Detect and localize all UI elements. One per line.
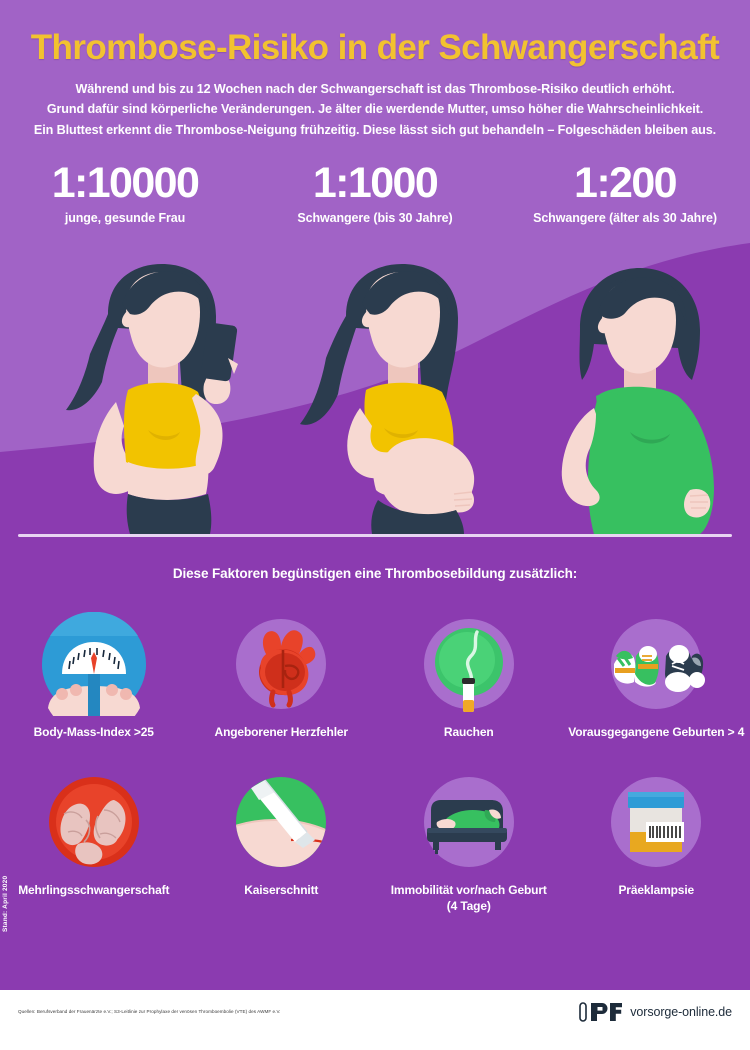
infographic-poster: Thrombose-Risiko in der Schwangerschaft …	[0, 0, 750, 1050]
ipf-logo-icon	[579, 1002, 623, 1022]
factor-item[interactable]: Kaiserschnitt	[188, 770, 376, 914]
stat-label: Schwangere (älter als 30 Jahre)	[500, 211, 750, 225]
stat-value: 1:10000	[0, 162, 250, 205]
factor-label: Mehrlingsschwangerschaft	[0, 882, 188, 898]
figure-illustrations	[0, 262, 750, 534]
intro-line-1: Während und bis zu 12 Wochen nach der Sc…	[0, 79, 750, 99]
stat-value: 1:1000	[250, 162, 500, 205]
factor-label: Präeklampsie	[563, 882, 750, 898]
factor-item[interactable]: Angeborener Herzfehler	[188, 612, 376, 740]
factor-label: Rauchen	[375, 724, 563, 740]
factor-label: Angeborener Herzfehler	[188, 724, 376, 740]
stat-item: 1:200 Schwangere (älter als 30 Jahre)	[500, 162, 750, 225]
factor-item[interactable]: Rauchen	[375, 612, 563, 740]
date-stamp: Stand: April 2020	[2, 876, 9, 932]
urine-sample-icon	[604, 770, 708, 874]
factor-label: Kaiserschnitt	[188, 882, 376, 898]
intro-text: Während und bis zu 12 Wochen nach der Sc…	[0, 79, 750, 140]
baby-shoes-icon	[604, 612, 708, 716]
person-on-sofa-icon	[417, 770, 521, 874]
factors-heading: Diese Faktoren begünstigen eine Thrombos…	[0, 566, 750, 581]
factors-grid: Body-Mass-Index >25	[0, 612, 750, 915]
brand[interactable]: vorsorge-online.de	[579, 1002, 732, 1022]
factor-label-sub: (4 Tage)	[375, 898, 563, 914]
factor-item[interactable]: Mehrlingsschwangerschaft	[0, 770, 188, 914]
source-text: Quellen: Berufsverband der Frauenärzte e…	[18, 1009, 280, 1015]
factor-item[interactable]: Body-Mass-Index >25	[0, 612, 188, 740]
factor-item[interactable]: Vorausgegangene Geburten > 4	[563, 612, 750, 740]
factors-row: Mehrlingsschwangerschaft	[0, 770, 750, 914]
factor-label: Vorausgegangene Geburten > 4	[563, 724, 750, 740]
factor-item[interactable]: Immobilität vor/nach Geburt (4 Tage)	[375, 770, 563, 914]
cigarette-icon	[417, 612, 521, 716]
stat-label: junge, gesunde Frau	[0, 211, 250, 225]
intro-line-3: Ein Bluttest erkennt die Thrombose-Neigu…	[0, 120, 750, 140]
section-divider	[18, 534, 732, 537]
page-title: Thrombose-Risiko in der Schwangerschaft	[0, 30, 750, 67]
stat-item: 1:10000 junge, gesunde Frau	[0, 162, 250, 225]
factor-label-main: Immobilität vor/nach Geburt	[391, 883, 547, 897]
pregnant-woman-under-30-illustration	[292, 262, 512, 534]
factors-row: Body-Mass-Index >25	[0, 612, 750, 740]
brand-url: vorsorge-online.de	[630, 1005, 732, 1019]
stat-item: 1:1000 Schwangere (bis 30 Jahre)	[250, 162, 500, 225]
scalpel-icon	[229, 770, 333, 874]
factor-item[interactable]: Präeklampsie	[563, 770, 750, 914]
intro-line-2: Grund dafür sind körperliche Veränderung…	[0, 99, 750, 119]
stat-label: Schwangere (bis 30 Jahre)	[250, 211, 500, 225]
statistics-row: 1:10000 junge, gesunde Frau 1:1000 Schwa…	[0, 162, 750, 225]
factor-label: Body-Mass-Index >25	[0, 724, 188, 740]
heart-icon	[229, 612, 333, 716]
pregnant-woman-over-30-illustration	[534, 262, 744, 534]
twins-womb-icon	[42, 770, 146, 874]
stat-value: 1:200	[500, 162, 750, 205]
footer: Quellen: Berufsverband der Frauenärzte e…	[0, 990, 750, 1050]
young-woman-with-phone-illustration	[52, 262, 272, 534]
header: Thrombose-Risiko in der Schwangerschaft …	[0, 0, 750, 140]
factor-label: Immobilität vor/nach Geburt (4 Tage)	[375, 882, 563, 914]
bathroom-scale-icon	[42, 612, 146, 716]
